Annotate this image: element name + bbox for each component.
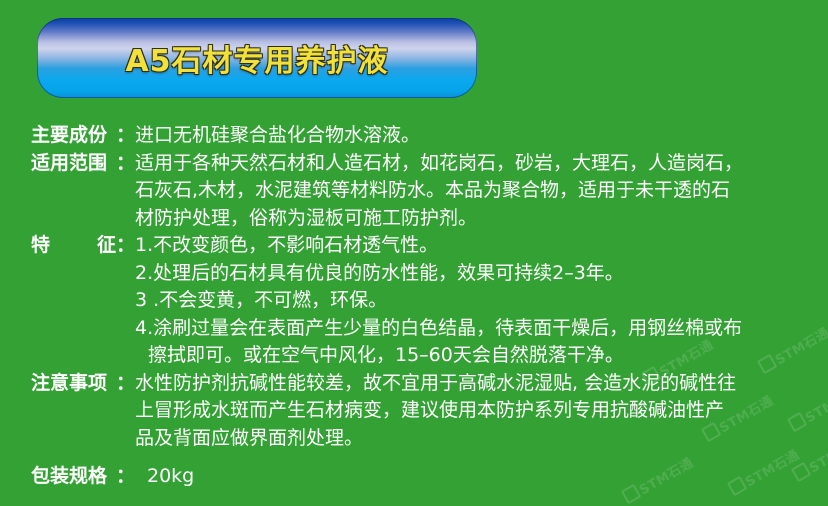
spec-row: 注意事项 ： 水性防护剂抗碱性能较差，故不宜用于高碱水泥湿贴, 会造水泥的碱性往 <box>0 370 828 398</box>
spec-continuation-line: 4.涂刷过量会在表面产生少量的白色结晶，待表面干燥后，用钢丝棉或布 <box>135 315 828 343</box>
packaging-row: 包装规格 ： 20kg <box>0 463 828 491</box>
spec-continuation-line: 擦拭即可。或在空气中风化，15–60天会自然脱落干净。 <box>148 342 828 370</box>
spec-value: 1.不改变颜色，不影响石材透气性。 <box>135 232 828 260</box>
product-title: A5石材专用养护液 <box>37 36 477 80</box>
spec-value: 进口无机硅聚合盐化合物水溶液。 <box>135 122 828 150</box>
packaging-label: 包装规格 ： <box>31 463 135 491</box>
spec-label-part-a: 特 <box>31 232 50 260</box>
spec-label: 注意事项 ： <box>31 370 135 398</box>
title-banner: A5石材专用养护液 <box>37 18 477 98</box>
spec-continuation-line: 石灰石,木材，水泥建筑等材料防水。本品为聚合物，适用于未干透的石 <box>135 177 828 205</box>
spec-label-text: 注意事项 <box>31 370 116 398</box>
packaging-label-colon: ： <box>116 463 135 491</box>
spec-label-text: 主要成份 <box>31 122 116 150</box>
spec-value: 适用于各种天然石材和人造石材，如花岗石，砂岩，大理石，人造岗石， <box>135 150 828 178</box>
packaging-label-part-a: 包装规格 <box>31 463 107 491</box>
poster-root: A5石材专用养护液 主要成份 ： 进口无机硅聚合盐化合物水溶液。 适用范围 ： <box>0 0 828 506</box>
spec-label-part-b: 征 <box>97 232 116 260</box>
packaging-label-text: 包装规格 <box>31 463 116 491</box>
spec-label-colon: ： <box>116 150 135 178</box>
spec-label-colon: ： <box>116 232 135 260</box>
spec-row: 适用范围 ： 适用于各种天然石材和人造石材，如花岗石，砂岩，大理石，人造岗石， <box>0 150 828 178</box>
spec-continuation-line: 2.处理后的石材具有优良的防水性能，效果可持续2–3年。 <box>135 260 828 288</box>
spec-label-text: 适用范围 <box>31 150 116 178</box>
specification-block: 主要成份 ： 进口无机硅聚合盐化合物水溶液。 适用范围 ： 适用于各种天然石材和… <box>0 122 828 491</box>
spec-label: 适用范围 ： <box>31 150 135 178</box>
packaging-value: 20kg <box>147 463 828 491</box>
spec-label-text: 特 征 <box>31 232 116 260</box>
spec-value: 水性防护剂抗碱性能较差，故不宜用于高碱水泥湿贴, 会造水泥的碱性往 <box>135 370 828 398</box>
spec-continuation-line: 上冒形成水斑而产生石材病变，建议使用本防护系列专用抗酸碱油性产 <box>135 397 828 425</box>
spec-continuation-line: 3 .不会变黄，不可燃，环保。 <box>135 287 828 315</box>
spec-continuation-line: 材防护处理，俗称为湿板可施工防护剂。 <box>135 205 828 233</box>
spec-label-part-a: 适用范围 <box>31 150 107 178</box>
spec-continuation-line: 品及背面应做界面剂处理。 <box>135 425 828 453</box>
spec-label-part-a: 主要成份 <box>31 122 107 150</box>
spec-label-colon: ： <box>116 122 135 150</box>
spec-label: 主要成份 ： <box>31 122 135 150</box>
spec-label: 特 征 ： <box>31 232 135 260</box>
spec-label-part-a: 注意事项 <box>31 370 107 398</box>
spec-row: 特 征 ： 1.不改变颜色，不影响石材透气性。 <box>0 232 828 260</box>
spec-row: 主要成份 ： 进口无机硅聚合盐化合物水溶液。 <box>0 122 828 150</box>
spec-label-colon: ： <box>116 370 135 398</box>
